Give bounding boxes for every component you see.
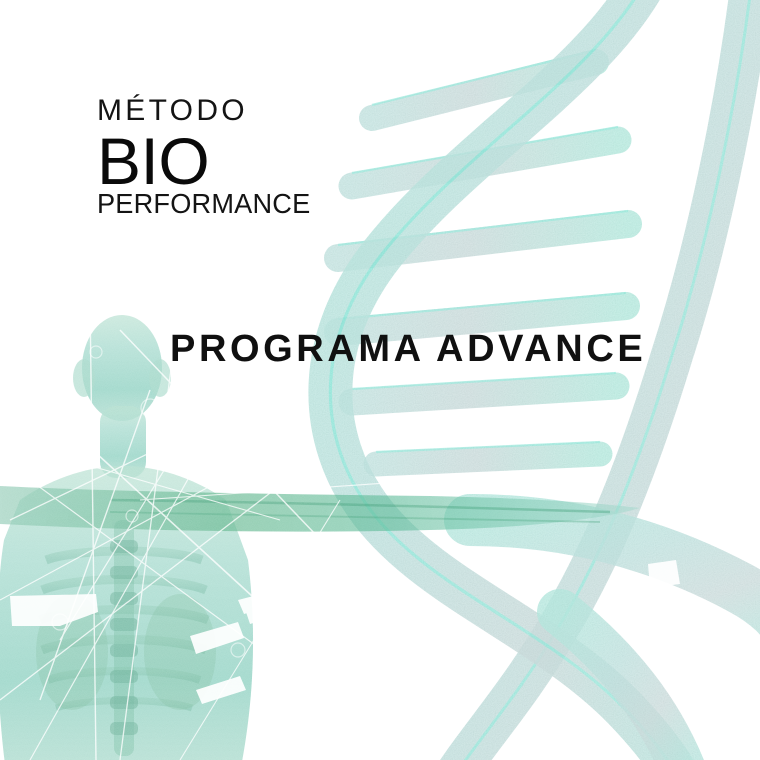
dna-strand-tail — [470, 520, 760, 760]
poster-canvas: MÉTODO BIO PERFORMANCE PROGRAMA ADVANCE — [0, 0, 760, 760]
figure-organ-left — [36, 594, 108, 710]
figure-organ-right — [144, 594, 216, 710]
page-title: PROGRAMA ADVANCE — [170, 329, 646, 371]
brand-logo-lockup: MÉTODO BIO PERFORMANCE — [97, 96, 317, 218]
figure-arm-muscle-line — [110, 500, 610, 512]
figure-neck — [100, 406, 146, 478]
dna-strand-back — [446, 0, 752, 760]
logo-line-performance: PERFORMANCE — [97, 190, 310, 218]
knockout-shapes — [10, 560, 680, 704]
figure-ribcage — [40, 551, 208, 708]
figure-head — [82, 315, 162, 421]
figure-arm-span — [0, 486, 640, 532]
figure-torso — [0, 466, 253, 760]
logo-line-metodo: MÉTODO — [97, 96, 317, 127]
figure-spine — [110, 520, 138, 756]
dna-strand-front — [330, 0, 686, 760]
figure-arm-muscle-line-2 — [110, 512, 600, 522]
dna-base-pair-rungs — [338, 50, 628, 464]
logo-line-bio: BIO — [97, 130, 317, 192]
figure-ear-left — [73, 359, 95, 397]
figure-ear-right — [149, 359, 171, 397]
